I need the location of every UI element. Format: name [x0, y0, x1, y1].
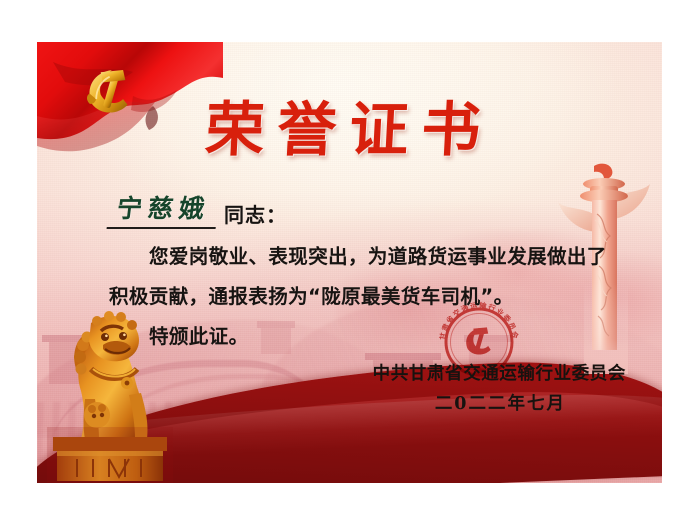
- body-line-1: 您爱岗敬业、表现突出，为道路货运事业发展做出了: [109, 240, 579, 269]
- honor-certificate: 甘肃省交通运输行业委员会 荣誉证书 宁慈娥 同志： 您爱岗敬业、表现突出，为道路…: [37, 42, 662, 483]
- screenshot-canvas: 甘肃省交通运输行业委员会 荣誉证书 宁慈娥 同志： 您爱岗敬业、表现突出，为道路…: [0, 0, 700, 525]
- comrade-label: 同志：: [224, 199, 287, 229]
- body-line-3: 特颁此证。: [109, 320, 579, 349]
- certificate-title: 荣誉证书: [37, 100, 662, 159]
- certificate-content: 荣誉证书 宁慈娥 同志： 您爱岗敬业、表现突出，为道路货运事业发展做出了 积极贡…: [37, 42, 662, 483]
- body-line-2: 积极贡献，通报表扬为“陇原最美货车司机”。: [109, 280, 579, 309]
- issue-date: 二0二二年七月: [37, 390, 566, 415]
- issuing-organization: 中共甘肃省交通运输行业委员会: [37, 360, 626, 385]
- awardee-name: 宁慈娥: [107, 189, 221, 229]
- awardee-row: 宁慈娥 同志：: [109, 189, 287, 229]
